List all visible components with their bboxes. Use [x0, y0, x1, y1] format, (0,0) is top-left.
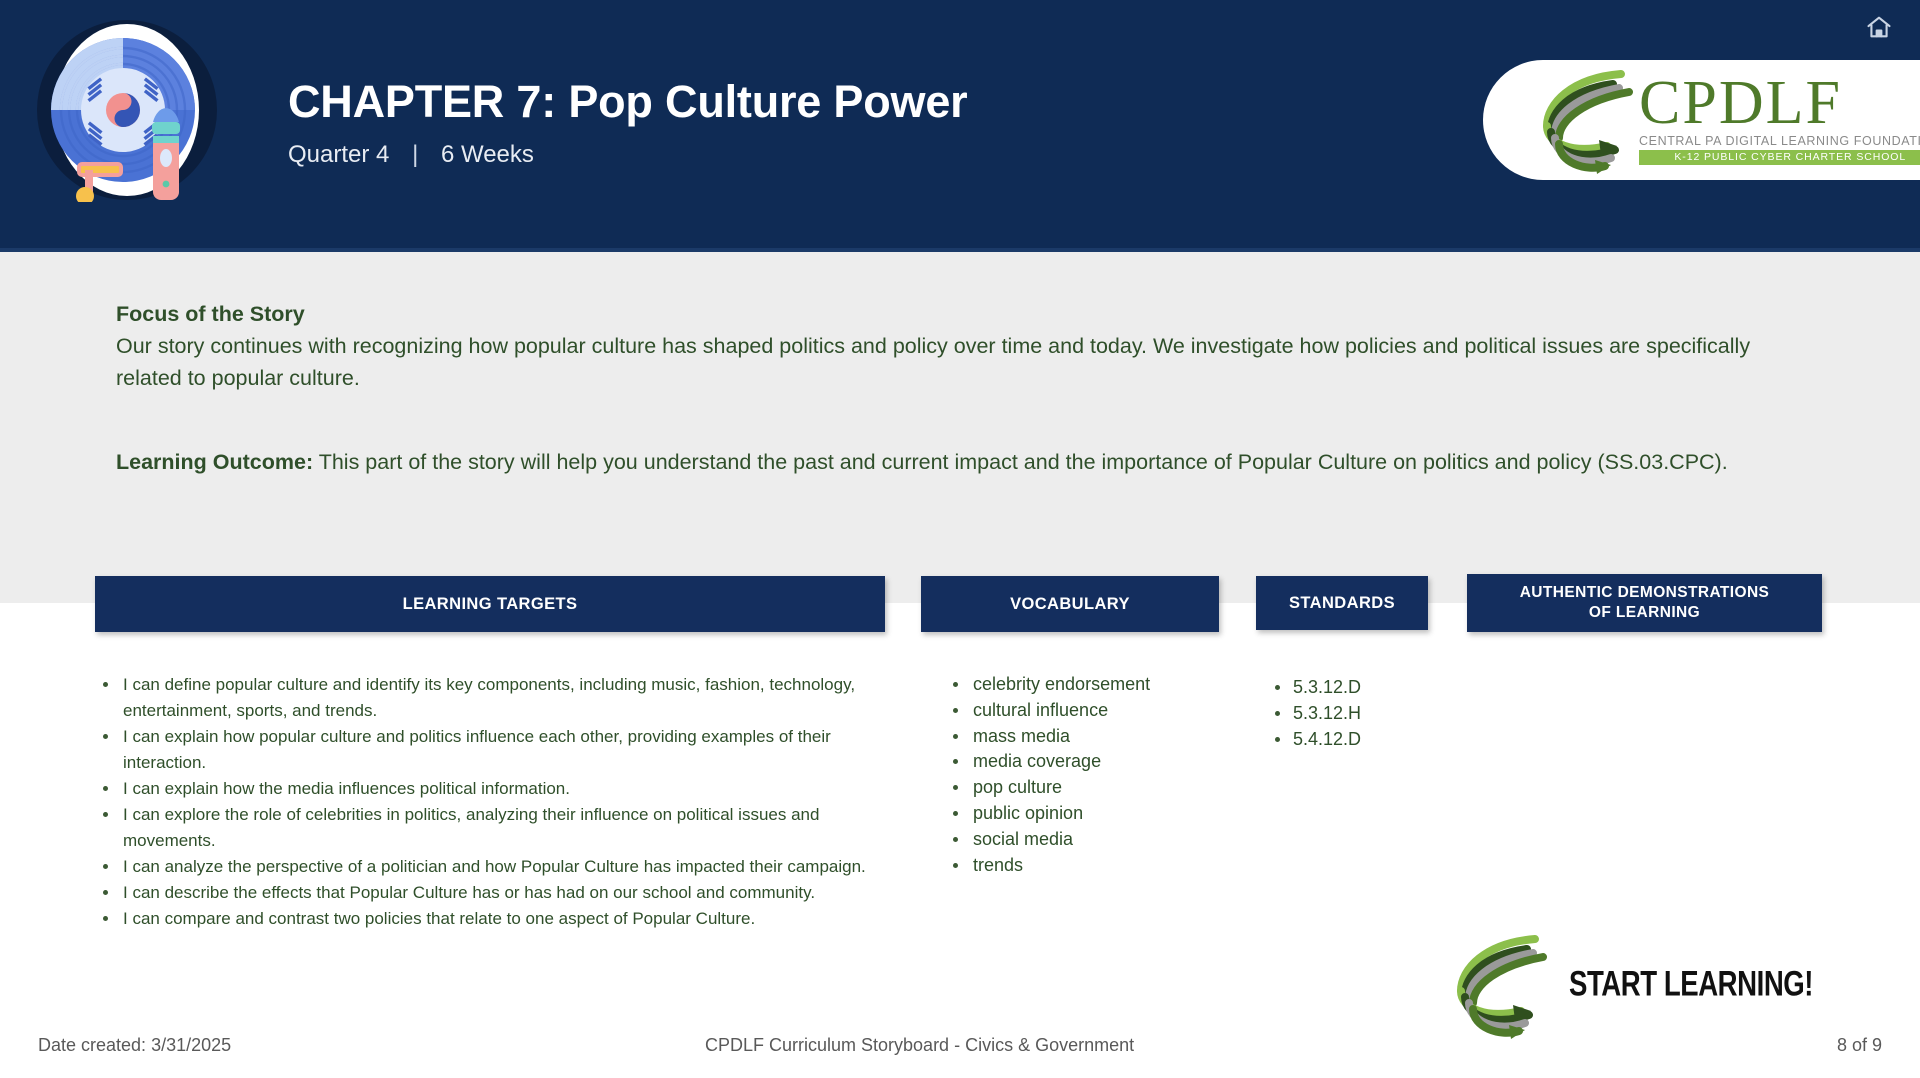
learning-targets-items: I can define popular culture and identif…	[95, 672, 895, 932]
panel-title-vocabulary: VOCABULARY	[1010, 595, 1130, 614]
list-item: I can explore the role of celebrities in…	[95, 802, 895, 854]
list-item: trends	[945, 853, 1225, 879]
footer-document-title: CPDLF Curriculum Storyboard - Civics & G…	[705, 1035, 1134, 1056]
vocabulary-items: celebrity endorsementcultural influencem…	[945, 672, 1225, 878]
panel-title-standards: STANDARDS	[1289, 594, 1395, 613]
focus-heading: Focus of the Story	[116, 298, 1796, 330]
panel-title-authentic-line1: AUTHENTIC DEMONSTRATIONS	[1520, 583, 1770, 603]
list-item: 5.3.12.D	[1265, 675, 1435, 701]
panel-header-vocabulary: VOCABULARY	[921, 576, 1219, 632]
vocabulary-list: celebrity endorsementcultural influencem…	[945, 672, 1225, 878]
learning-targets-list: I can define popular culture and identif…	[95, 672, 895, 932]
page-title: CHAPTER 7: Pop Culture Power	[288, 78, 967, 125]
list-item: public opinion	[945, 801, 1225, 827]
panel-title-authentic-line2: OF LEARNING	[1589, 603, 1700, 623]
panel-title-learning-targets: LEARNING TARGETS	[403, 595, 578, 614]
start-learning-label: START LEARNING!	[1569, 965, 1813, 1005]
panel-header-standards: STANDARDS	[1256, 576, 1428, 630]
title-block: CHAPTER 7: Pop Culture Power Quarter 4 |…	[288, 78, 967, 169]
list-item: 5.4.12.D	[1265, 727, 1435, 753]
page-header: CHAPTER 7: Pop Culture Power Quarter 4 |…	[0, 0, 1920, 252]
list-item: I can explain how the media influences p…	[95, 776, 895, 802]
learning-outcome-body: This part of the story will help you und…	[319, 450, 1728, 474]
start-learning-badge[interactable]: START LEARNING!	[1443, 930, 1823, 1040]
footer-date-created: Date created: 3/31/2025	[38, 1035, 231, 1056]
focus-of-the-story: Focus of the Story Our story continues w…	[116, 298, 1796, 478]
list-item: I can analyze the perspective of a polit…	[95, 854, 895, 880]
panel-header-authentic-demonstrations: AUTHENTIC DEMONSTRATIONS OF LEARNING	[1467, 574, 1822, 632]
chapter-meta: Quarter 4 | 6 Weeks	[288, 141, 967, 169]
cpdlf-full-name: CENTRAL PA DIGITAL LEARNING FOUNDATION	[1639, 134, 1920, 148]
learning-outcome-label: Learning Outcome:	[116, 450, 313, 474]
cpdlf-logo[interactable]: CPDLF CENTRAL PA DIGITAL LEARNING FOUNDA…	[1483, 60, 1920, 180]
footer-page-indicator: 8 of 9	[1837, 1035, 1882, 1056]
panel-header-learning-targets: LEARNING TARGETS	[95, 576, 885, 632]
list-item: 5.3.12.H	[1265, 701, 1435, 727]
focus-body: Our story continues with recognizing how…	[116, 330, 1796, 394]
list-item: social media	[945, 827, 1225, 853]
list-item: media coverage	[945, 749, 1225, 775]
list-item: celebrity endorsement	[945, 672, 1225, 698]
list-item: I can define popular culture and identif…	[95, 672, 895, 724]
quarter-label: Quarter 4	[288, 141, 389, 168]
list-item: I can describe the effects that Popular …	[95, 880, 895, 906]
home-icon[interactable]	[1860, 10, 1898, 44]
list-item: I can explain how popular culture and po…	[95, 724, 895, 776]
cpdlf-school-tag: K-12 PUBLIC CYBER CHARTER SCHOOL	[1639, 150, 1920, 165]
list-item: cultural influence	[945, 698, 1225, 724]
cpdlf-swoosh-icon	[1529, 66, 1641, 174]
meta-separator: |	[396, 141, 434, 169]
standards-list: 5.3.12.D5.3.12.H5.4.12.D	[1265, 675, 1435, 752]
list-item: mass media	[945, 724, 1225, 750]
standards-items: 5.3.12.D5.3.12.H5.4.12.D	[1265, 675, 1435, 752]
vinyl-record-microphone-icon	[35, 18, 219, 202]
cpdlf-swoosh-icon	[1443, 931, 1555, 1039]
cpdlf-acronym: CPDLF	[1639, 75, 1920, 132]
list-item: I can compare and contrast two policies …	[95, 906, 895, 932]
learning-outcome: Learning Outcome: This part of the story…	[116, 446, 1796, 478]
page-footer: Date created: 3/31/2025 CPDLF Curriculum…	[0, 1035, 1920, 1075]
duration-label: 6 Weeks	[441, 141, 534, 168]
list-item: pop culture	[945, 775, 1225, 801]
